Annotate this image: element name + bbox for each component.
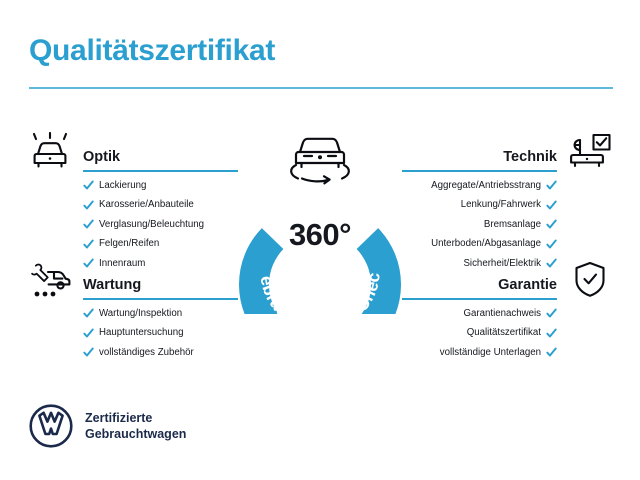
car-front-shine-icon — [28, 132, 72, 172]
gebrauchtwagen-check-badge: Gebrauchtwagen-Check 360° — [228, 124, 412, 314]
check-icon — [83, 328, 94, 339]
section-garantie-header: Garantie — [402, 258, 612, 302]
check-icon — [546, 200, 557, 211]
section-wartung-title: Wartung — [83, 277, 141, 293]
shield-check-icon — [568, 260, 612, 300]
list-item: Karosserie/Anbauteile — [28, 200, 238, 211]
check-icon — [546, 180, 557, 191]
list-item-label: Qualitätszertifikat — [467, 328, 541, 338]
list-item: Aggregate/Antriebsstrang — [402, 180, 612, 191]
list-item: Qualitätszertifikat — [402, 328, 612, 339]
car-checkbox-icon — [568, 132, 612, 172]
check-icon — [83, 308, 94, 319]
list-item-label: vollständige Unterlagen — [440, 348, 541, 358]
section-technik-header: Technik — [402, 130, 612, 174]
check-icon — [83, 180, 94, 191]
list-item: Felgen/Reifen — [28, 239, 238, 250]
list-item-label: Garantienachweis — [463, 309, 541, 319]
list-item-label: Lackierung — [99, 181, 146, 191]
qualitaetszertifikat-page: Qualitätszertifikat Optik Lackierung — [0, 0, 640, 480]
check-icon — [546, 347, 557, 358]
section-wartung-header: Wartung — [28, 258, 238, 302]
check-icon — [546, 239, 557, 250]
section-technik: Technik Aggregate/Antriebsstrang Lenkung… — [402, 130, 612, 278]
list-item-label: vollständiges Zubehör — [99, 348, 194, 358]
section-optik-list: Lackierung Karosserie/Anbauteile Verglas… — [28, 180, 238, 269]
list-item-label: Karosserie/Anbauteile — [99, 200, 194, 210]
section-garantie-underline — [402, 298, 557, 300]
list-item-label: Aggregate/Antriebsstrang — [431, 181, 541, 191]
section-wartung-list: Wartung/Inspektion Hauptuntersuchung vol… — [28, 308, 238, 358]
brand-line-1: Zertifizierte — [85, 410, 186, 427]
list-item-label: Bremsanlage — [484, 220, 541, 230]
vw-logo-icon — [29, 404, 73, 448]
check-icon — [546, 328, 557, 339]
section-optik: Optik Lackierung Karosserie/Anbauteile V… — [28, 130, 238, 278]
list-item: vollständige Unterlagen — [402, 347, 612, 358]
section-optik-title: Optik — [83, 149, 120, 165]
section-wartung: Wartung Wartung/Inspektion Hauptuntersuc… — [28, 258, 238, 367]
section-technik-title: Technik — [503, 149, 557, 165]
brand-line-2: Gebrauchtwagen — [85, 426, 186, 443]
list-item: Hauptuntersuchung — [28, 328, 238, 339]
list-item: Wartung/Inspektion — [28, 308, 238, 319]
section-garantie-title: Garantie — [498, 277, 557, 293]
check-icon — [546, 308, 557, 319]
brand-text: Zertifizierte Gebrauchtwagen — [85, 410, 186, 443]
list-item-label: Wartung/Inspektion — [99, 309, 182, 319]
list-item: Verglasung/Beleuchtung — [28, 219, 238, 230]
page-title: Qualitätszertifikat — [29, 34, 275, 68]
list-item-label: Hauptuntersuchung — [99, 328, 184, 338]
car-wrench-icon — [28, 260, 72, 300]
check-icon — [83, 347, 94, 358]
list-item-label: Verglasung/Beleuchtung — [99, 220, 204, 230]
check-icon — [83, 239, 94, 250]
list-item: vollständiges Zubehör — [28, 347, 238, 358]
list-item: Lackierung — [28, 180, 238, 191]
list-item: Unterboden/Abgasanlage — [402, 239, 612, 250]
section-wartung-underline — [83, 298, 238, 300]
section-optik-underline — [83, 170, 238, 172]
brand-lockup: Zertifizierte Gebrauchtwagen — [29, 404, 186, 448]
check-icon — [83, 219, 94, 230]
list-item-label: Lenkung/Fahrwerk — [461, 200, 541, 210]
list-item: Garantienachweis — [402, 308, 612, 319]
list-item: Lenkung/Fahrwerk — [402, 200, 612, 211]
section-garantie-list: Garantienachweis Qualitätszertifikat vol… — [402, 308, 612, 358]
list-item: Bremsanlage — [402, 219, 612, 230]
list-item-label: Unterboden/Abgasanlage — [431, 239, 541, 249]
list-item-label: Felgen/Reifen — [99, 239, 159, 249]
section-technik-underline — [402, 170, 557, 172]
badge-degrees: 360° — [228, 217, 412, 253]
section-garantie: Garantie Garantienachweis Qualitätszerti… — [402, 258, 612, 367]
check-icon — [546, 219, 557, 230]
title-divider — [29, 87, 613, 89]
check-icon — [83, 200, 94, 211]
section-technik-list: Aggregate/Antriebsstrang Lenkung/Fahrwer… — [402, 180, 612, 269]
section-optik-header: Optik — [28, 130, 238, 174]
